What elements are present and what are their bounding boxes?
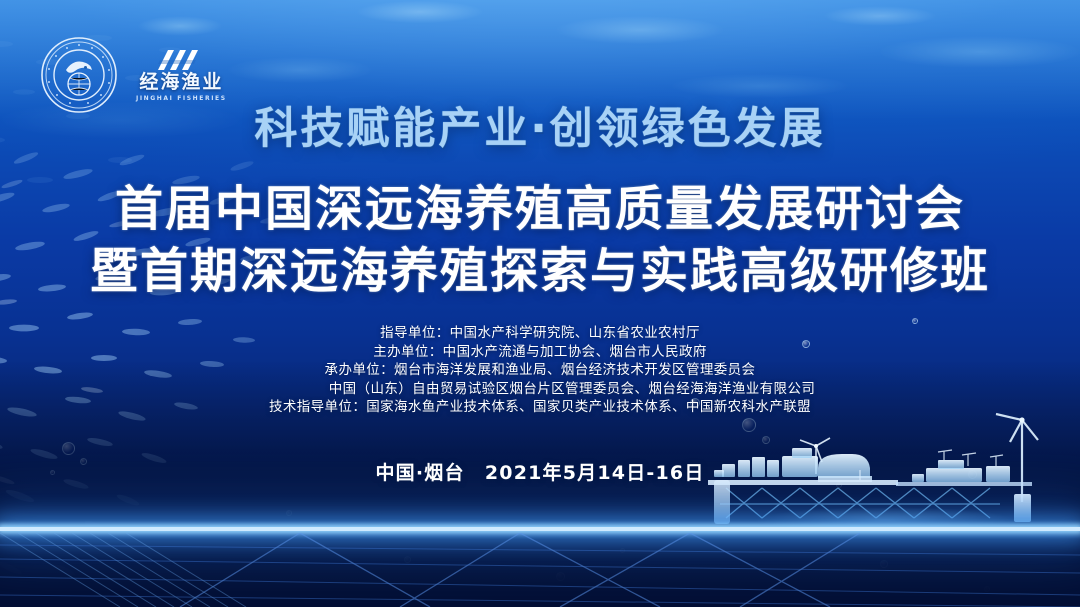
logo-lockup: 经海渔业 JINGHAI FISHERIES xyxy=(40,36,227,114)
bubble-icon xyxy=(62,442,75,455)
bubble-icon xyxy=(286,510,292,516)
organizer-line: 承办单位：烟台市海洋发展和渔业局、烟台经济技术开发区管理委员会 xyxy=(0,361,1080,380)
jinghai-brand-en: JINGHAI FISHERIES xyxy=(136,96,227,102)
organizer-line: 主办单位：中国水产流通与加工协会、烟台市人民政府 xyxy=(0,343,1080,362)
headline-line-2: 暨首期深远海养殖探索与实践高级研修班 xyxy=(0,240,1080,302)
organizer-line: 技术指导单位：国家海水鱼产业技术体系、国家贝类产业技术体系、中国新农科水产联盟 xyxy=(0,398,1080,417)
bubble-icon xyxy=(556,572,565,581)
organizer-line: 中国（山东）自由贸易试验区烟台片区管理委员会、烟台经海海洋渔业有限公司 xyxy=(0,380,1080,399)
poster-headline: 首届中国深远海养殖高质量发展研讨会 暨首期深远海养殖探索与实践高级研修班 xyxy=(0,178,1080,302)
china-fisheries-association-seal-icon xyxy=(40,36,118,114)
jinghai-brand: 经海渔业 JINGHAI FISHERIES xyxy=(136,48,227,102)
organizer-list: 指导单位：中国水产科学研究院、山东省农业农村厅 主办单位：中国水产流通与加工协会… xyxy=(0,324,1080,417)
bubble-icon xyxy=(880,560,888,568)
poster-canvas: 经海渔业 JINGHAI FISHERIES 科技赋能产业·创领绿色发展 首届中… xyxy=(0,0,1080,607)
bubble-icon xyxy=(404,556,411,563)
jinghai-brand-cn: 经海渔业 xyxy=(139,73,223,92)
headline-line-1: 首届中国深远海养殖高质量发展研讨会 xyxy=(0,178,1080,240)
organizer-line: 指导单位：中国水产科学研究院、山东省农业农村厅 xyxy=(0,324,1080,343)
bubble-icon xyxy=(620,548,625,553)
poster-tagline: 科技赋能产业·创领绿色发展 xyxy=(0,108,1080,151)
location-and-date: 中国·烟台 2021年5月14日-16日 xyxy=(0,458,1080,485)
underwater-mesh-grid xyxy=(0,533,1080,607)
jinghai-wave-mark-icon xyxy=(152,48,210,72)
bubble-icon xyxy=(984,586,990,592)
